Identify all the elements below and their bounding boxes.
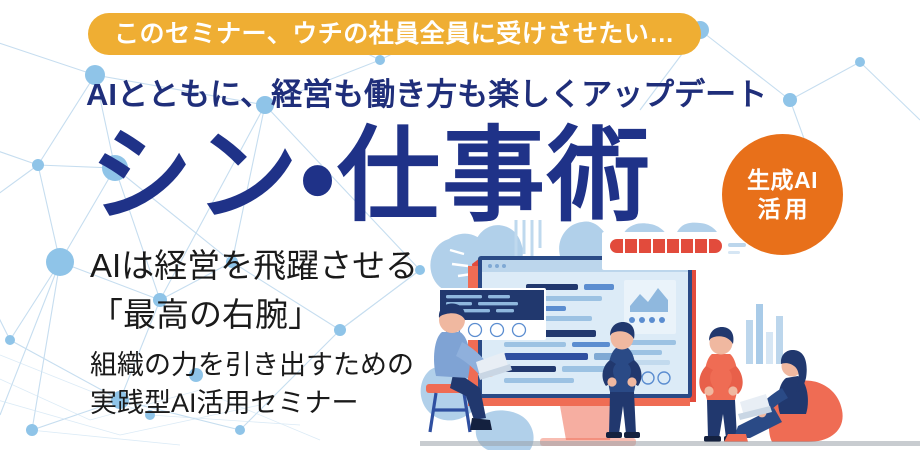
- tagline-pill: このセミナー、ウチの社員全員に受けさせたい…: [88, 13, 701, 55]
- tagline-pill-label: このセミナー、ウチの社員全員に受けさせたい…: [114, 22, 675, 47]
- badge-line-2: 活用: [754, 195, 812, 224]
- sub-line-2: 実践型AI活用セミナー: [90, 384, 418, 422]
- description-block: AIは経営を飛躍させる 「最高の右腕」 組織の力を引き出すための 実践型AI活用…: [90, 243, 418, 423]
- standing-person-coral: [699, 327, 742, 442]
- seminar-banner: このセミナー、ウチの社員全員に受けさせたい… AIとともに、経営も働き方も楽しく…: [0, 0, 920, 450]
- subtitle: AIとともに、経営も働き方も楽しくアップデート: [86, 76, 767, 113]
- woman-on-beanbag-with-laptop: [724, 350, 843, 442]
- lead-line-2: 「最高の右腕」: [90, 292, 418, 338]
- seminar-illustration: [420, 220, 920, 450]
- bar-chart: [746, 304, 783, 364]
- floor-line: [420, 441, 920, 446]
- status-badge: 生成AI 活用: [722, 134, 843, 255]
- lead-line-1: AIは経営を飛躍させる: [90, 243, 418, 289]
- page-title: シン・仕事術: [90, 122, 652, 230]
- copy-spacer: [90, 337, 418, 346]
- badge-line-1: 生成AI: [747, 166, 818, 195]
- sub-line-1: 組織の力を引き出すための: [90, 346, 418, 384]
- floating-search-bar: [602, 232, 752, 270]
